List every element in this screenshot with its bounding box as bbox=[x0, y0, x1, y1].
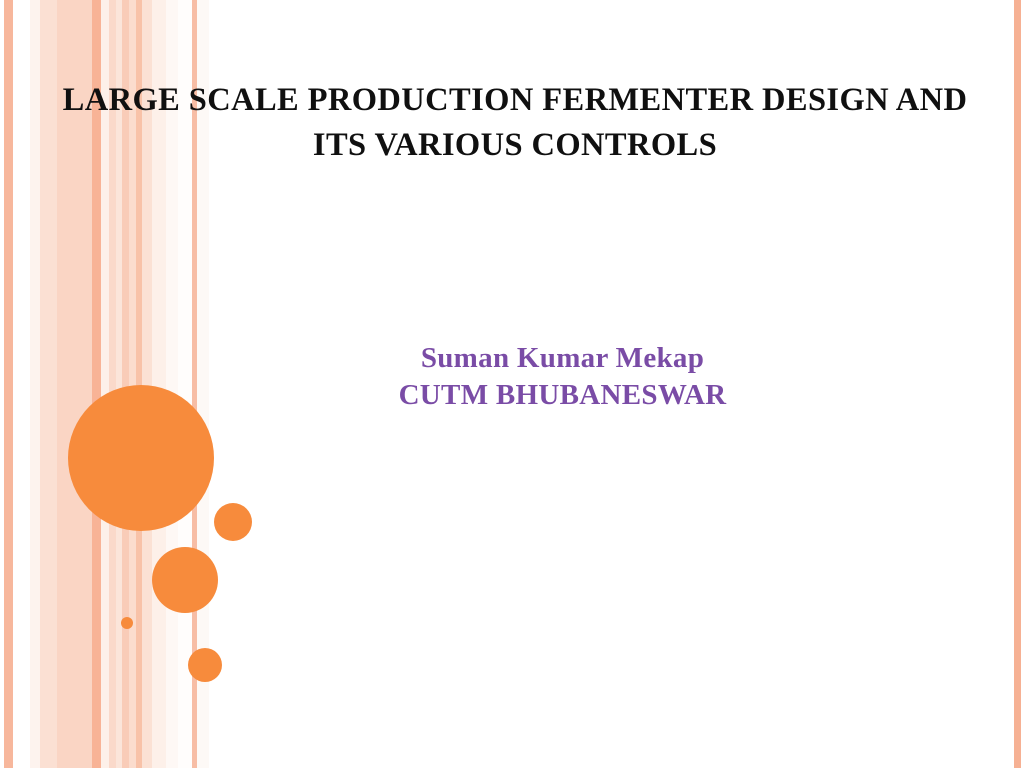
decorative-bubble-medium bbox=[152, 547, 218, 613]
decorative-bubble-small-upper-right bbox=[214, 503, 252, 541]
decorative-stripe-2 bbox=[13, 0, 30, 768]
title-line-2: ITS VARIOUS CONTROLS bbox=[40, 123, 990, 168]
author-affiliation: CUTM BHUBANESWAR bbox=[190, 377, 935, 414]
decorative-stripe-1 bbox=[4, 0, 13, 768]
decorative-stripe-3 bbox=[30, 0, 40, 768]
presentation-slide: LARGE SCALE PRODUCTION FERMENTER DESIGN … bbox=[0, 0, 1024, 768]
decorative-bubble-small-lower bbox=[188, 648, 222, 682]
title-line-1: LARGE SCALE PRODUCTION FERMENTER DESIGN … bbox=[40, 78, 990, 123]
subtitle: Suman Kumar Mekap CUTM BHUBANESWAR bbox=[190, 340, 935, 414]
page-title: LARGE SCALE PRODUCTION FERMENTER DESIGN … bbox=[40, 78, 990, 168]
author-name: Suman Kumar Mekap bbox=[190, 340, 935, 377]
decorative-bubble-tiny bbox=[121, 617, 133, 629]
decorative-stripe-right bbox=[1014, 0, 1021, 768]
